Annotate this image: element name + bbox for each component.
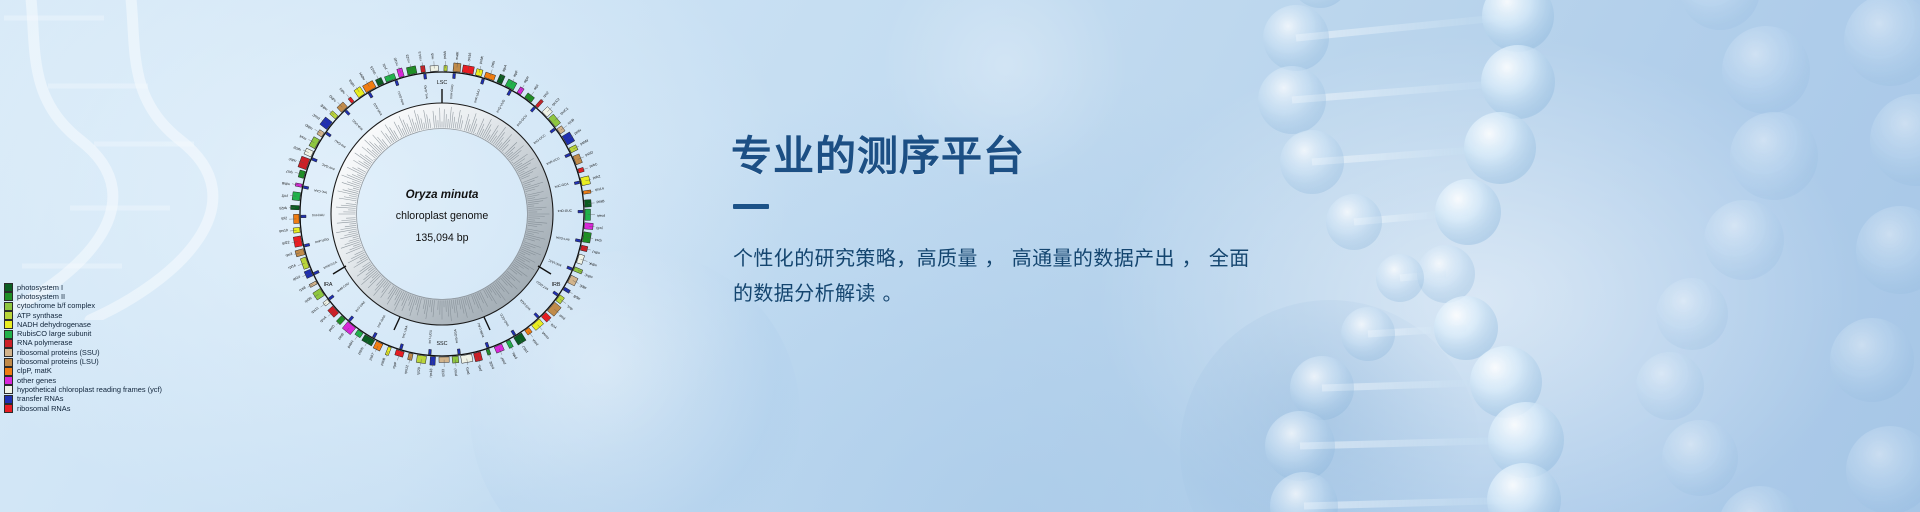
- gene-name-label: ndhI: [339, 87, 346, 95]
- gene-name-label: rps3: [285, 252, 293, 258]
- region-label-ssc: SSC: [436, 341, 447, 347]
- gene-name-label: psbB: [380, 357, 387, 367]
- gene-name-label: psbT: [368, 351, 375, 361]
- legend-color-swatch: [4, 292, 13, 301]
- legend-item-label: cytochrome b/f complex: [17, 302, 95, 310]
- trna-name-label: trnY-GUA: [555, 235, 570, 242]
- gene-name-label: cemA: [541, 330, 550, 340]
- gene-name-label: ndhD: [304, 122, 314, 130]
- gene-feature-box: [329, 295, 335, 300]
- legend-item-label: RNA polymerase: [17, 339, 72, 347]
- trna-name-label: trnQ-UUG: [495, 98, 506, 113]
- legend-item: RNA polymerase: [4, 339, 264, 348]
- gene-feature-box: [385, 347, 391, 356]
- gene-name-label: rps7: [285, 169, 293, 175]
- banner-copy: 专业的测序平台 个性化的研究策略，高质量 ， 高通量的数据产出 ， 全面的数据分…: [731, 135, 1291, 311]
- gene-name-label: psbM: [580, 139, 590, 146]
- gene-name-label: ccsA: [298, 134, 307, 142]
- legend-color-swatch: [4, 302, 13, 311]
- trna-name-label: trnS-GGA: [453, 328, 459, 343]
- gene-feature-box: [303, 186, 308, 190]
- gene-name-label: ndhK: [588, 261, 598, 268]
- hero-banner: LSC IRA SSC IRB psbAmatKrps16psbKpsbIatp…: [0, 0, 1920, 512]
- legend-item: ribosomal proteins (LSU): [4, 357, 264, 366]
- legend-color-swatch: [4, 376, 13, 385]
- trna-name-label: trnL-UAG: [423, 84, 429, 98]
- gene-name-label: psbA: [443, 50, 447, 59]
- gene-name-label: psbC: [589, 162, 598, 168]
- legend-item-label: ribosomal RNAs: [17, 405, 70, 413]
- gene-name-label: psbD: [585, 150, 595, 157]
- gene-name-label: rps12: [404, 365, 410, 374]
- legend-item: transfer RNAs: [4, 395, 264, 404]
- gene-name-label: rps18: [429, 368, 434, 377]
- trna-name-label: trnI-GAU: [333, 138, 346, 149]
- legend-item: cytochrome b/f complex: [4, 302, 264, 311]
- gene-feature-box: [553, 291, 559, 296]
- gene-name-label: rpoC1: [559, 107, 569, 116]
- gene-name-label: psaC: [311, 112, 320, 120]
- gene-name-label: ndhG: [328, 94, 337, 103]
- banner-description: 个性化的研究策略，高质量 ， 高通量的数据产出 ， 全面的数据分析解读 。: [733, 241, 1273, 311]
- gene-name-label: rpoA: [319, 315, 328, 323]
- trna-name-label: trnG-GCC: [499, 312, 510, 327]
- gene-name-label: psbZ: [592, 174, 601, 180]
- legend-item-label: NADH dehydrogenase: [17, 321, 91, 329]
- gene-name-label: rpl14: [292, 275, 301, 282]
- gene-feature-box: [575, 239, 580, 243]
- gene-name-label: rps16: [467, 52, 473, 61]
- gene-name-label: ndhH: [358, 71, 366, 81]
- trna-name-label: trnP-UGG: [315, 237, 330, 244]
- trna-name-label: trnT-UGU: [428, 329, 433, 344]
- gene-feature-box: [563, 287, 570, 293]
- gene-name-label: petD: [328, 324, 336, 332]
- gene-name-label: rpl2: [281, 216, 287, 220]
- gene-feature-box: [400, 344, 404, 350]
- gene-name-label: rpoC2: [551, 97, 561, 107]
- gene-name-label: atpI: [533, 84, 540, 91]
- gene-name-label: matK: [455, 51, 460, 60]
- region-label-ira: IRA: [324, 282, 333, 288]
- legend-item-label: other genes: [17, 377, 56, 385]
- gene-name-label: rpl16: [288, 263, 297, 269]
- trna-name-label: trnG-UCC: [533, 133, 547, 145]
- page-title: 专业的测序平台: [731, 135, 1291, 178]
- gene-feature-box: [314, 270, 320, 274]
- gene-name-label: ycf3: [596, 226, 603, 231]
- trna-name-label: trnW-CCA: [323, 260, 339, 270]
- gene-name-label: atpH: [523, 75, 531, 84]
- gene-name-label: rrn16: [393, 57, 399, 66]
- gene-name-label: rbcL: [566, 304, 574, 311]
- gene-feature-box: [485, 342, 489, 348]
- legend-item-label: ATP synthase: [17, 312, 62, 320]
- genome-legend: photosystem Iphotosystem IIcytochrome b/…: [4, 283, 264, 413]
- gene-name-label: rrn23: [405, 54, 411, 63]
- trna-name-label: trnK-UUU: [473, 88, 481, 103]
- gene-name-label: psbJ: [521, 345, 528, 354]
- gene-name-label: ycf1: [382, 63, 388, 70]
- trna-name-label: trnH-GUG: [449, 84, 454, 99]
- legend-color-swatch: [4, 385, 13, 394]
- gene-name-label: ndhE: [319, 103, 328, 112]
- genome-center-species: Oryza minuta: [406, 189, 479, 201]
- legend-item-label: transfer RNAs: [17, 395, 63, 403]
- gene-name-label: petB: [337, 332, 345, 341]
- trna-name-label: trnF-GAA: [376, 314, 386, 328]
- legend-color-swatch: [4, 339, 13, 348]
- gene-feature-box: [368, 92, 373, 98]
- trna-name-label: trnE-UUC: [547, 258, 562, 267]
- trna-name-label: trnM-CAU: [336, 281, 350, 293]
- gene-feature-box: [481, 79, 485, 85]
- title-underline-rule: [733, 204, 769, 209]
- gene-feature-box: [567, 266, 573, 270]
- legend-item: RubisCO large subunit: [4, 329, 264, 338]
- trna-name-label: trnI-CAU: [312, 213, 325, 217]
- legend-item: ATP synthase: [4, 311, 264, 320]
- gene-feature-box: [511, 330, 516, 336]
- gene-name-label: rpl20: [416, 367, 421, 375]
- legend-item: NADH dehydrogenase: [4, 320, 264, 329]
- gene-feature-box: [457, 349, 460, 354]
- legend-item-label: ribosomal proteins (LSU): [17, 358, 99, 366]
- legend-item: photosystem II: [4, 292, 264, 301]
- gene-name-label: psbN: [357, 346, 365, 355]
- gene-feature-box: [507, 90, 512, 96]
- trna-name-label: trnV-UAC: [354, 299, 366, 312]
- legend-color-swatch: [4, 320, 13, 329]
- gene-feature-box: [328, 306, 339, 317]
- gene-name-label: clpP: [392, 361, 398, 369]
- gene-feature-box: [312, 158, 318, 162]
- gene-name-label: psaB: [596, 199, 605, 204]
- gene-feature-box: [395, 80, 399, 86]
- gene-feature-box: [292, 192, 300, 201]
- gene-name-label: rpl33: [441, 369, 445, 377]
- trna-name-label: trnC-GCA: [554, 182, 569, 189]
- gene-feature-box: [530, 107, 535, 112]
- gene-name-label: psbE: [488, 360, 495, 369]
- gene-name-label: rps2: [542, 91, 550, 99]
- trna-name-label: trnN-GUU: [397, 90, 406, 105]
- legend-item-label: photosystem I: [17, 284, 63, 292]
- gene-feature-box: [565, 153, 571, 157]
- trna-name-label: trnS-UGA: [518, 298, 531, 311]
- chloroplast-genome-map: LSC IRA SSC IRB psbAmatKrps16psbKpsbIatp…: [232, 4, 652, 424]
- gene-feature-box: [428, 349, 431, 354]
- gene-feature-box: [534, 313, 539, 318]
- trna-name-label: trnR-ACG: [372, 102, 383, 116]
- gene-name-label: atpA: [501, 64, 508, 73]
- gene-name-label: psbL: [511, 351, 518, 360]
- trna-name-label: trnfM-CAU: [476, 322, 485, 338]
- gene-name-label: psaJ: [453, 368, 458, 376]
- legend-color-swatch: [4, 283, 13, 292]
- legend-item: other genes: [4, 376, 264, 385]
- gene-feature-box: [345, 110, 350, 115]
- gene-feature-box: [326, 132, 332, 137]
- legend-item: ribosomal proteins (SSU): [4, 348, 264, 357]
- legend-item: photosystem I: [4, 283, 264, 292]
- gene-feature-box: [320, 117, 332, 129]
- gene-name-label: rps11: [310, 306, 319, 314]
- legend-item: clpP, matK: [4, 367, 264, 376]
- gene-name-label: ycf2: [281, 193, 288, 198]
- trna-name-label: trnV-GAC: [321, 162, 336, 171]
- gene-name-label: ndhJ: [592, 249, 601, 255]
- legend-color-swatch: [4, 348, 13, 357]
- gene-name-label: rps19: [279, 228, 288, 233]
- banner-description-line: 的数据分析解读 。: [733, 276, 1273, 311]
- gene-name-label: ndhB: [281, 181, 290, 187]
- gene-name-label: ndhA: [348, 78, 356, 88]
- legend-color-swatch: [4, 330, 13, 339]
- gene-name-label: rpl36: [304, 296, 313, 304]
- trna-name-label: trnT-GGU: [535, 279, 549, 291]
- gene-feature-box: [363, 81, 376, 93]
- legend-color-swatch: [4, 311, 13, 320]
- gene-name-label: psbK: [479, 55, 485, 64]
- trna-name-label: trnR-UCU: [546, 156, 561, 166]
- gene-feature-box: [578, 210, 583, 213]
- gene-feature-box: [373, 332, 378, 338]
- gene-name-label: petN: [574, 128, 583, 135]
- legend-item-label: ribosomal proteins (SSU): [17, 349, 100, 357]
- gene-name-label: petA: [531, 338, 539, 347]
- gene-name-label: petL: [477, 364, 483, 372]
- gene-name-label: atpE: [578, 283, 587, 290]
- legend-item-label: RubisCO large subunit: [17, 330, 91, 338]
- trna-name-label: trnS-GCU: [516, 113, 529, 127]
- gene-name-label: rpl23: [279, 206, 287, 210]
- gene-name-label: psaI: [558, 313, 566, 320]
- genome-map-svg: LSC IRA SSC IRB psbAmatKrps16psbKpsbIatp…: [232, 4, 652, 424]
- legend-item-label: photosystem II: [17, 293, 65, 301]
- gene-name-label: rps8: [298, 286, 306, 293]
- region-label-lsc: LSC: [437, 80, 448, 86]
- legend-item: ribosomal RNAs: [4, 404, 264, 413]
- gene-name-label: ycf4: [550, 322, 557, 329]
- background-blob: [1180, 300, 1480, 512]
- gene-name-label: rps15: [369, 65, 376, 75]
- legend-color-swatch: [4, 395, 13, 404]
- gene-name-label: rpoB: [567, 117, 576, 125]
- legend-color-swatch: [4, 404, 13, 413]
- genome-center-subtitle: chloroplast genome: [396, 210, 489, 222]
- gene-name-label: ndhF: [288, 157, 297, 164]
- gene-name-label: atpF: [512, 70, 519, 78]
- gene-feature-box: [574, 181, 579, 185]
- gene-feature-box: [348, 97, 354, 103]
- gene-name-label: psaA: [596, 214, 605, 218]
- gene-name-label: rpl32: [293, 145, 302, 152]
- gene-name-label: rps14: [595, 187, 604, 192]
- gene-feature-box: [349, 316, 354, 321]
- gene-name-label: petG: [465, 366, 470, 374]
- trna-name-label: trnD-GUC: [558, 209, 573, 213]
- gene-name-label: atpB: [572, 294, 581, 302]
- dna-helix-right-icon: [1200, 0, 1920, 512]
- gene-feature-box: [295, 249, 305, 257]
- gene-name-label: psbF: [500, 356, 507, 365]
- gene-name-label: rps4: [594, 238, 601, 243]
- legend-color-swatch: [4, 367, 13, 376]
- gene-name-label: psbH: [347, 339, 355, 348]
- legend-item-label: clpP, matK: [17, 367, 52, 375]
- legend-item-label: hypothetical chloroplast reading frames …: [17, 386, 162, 394]
- gene-feature-box: [452, 356, 459, 363]
- legend-item: hypothetical chloroplast reading frames …: [4, 385, 264, 394]
- trna-name-label: trnL-CAA: [313, 188, 327, 195]
- gene-feature-box: [424, 74, 427, 79]
- gene-feature-box: [295, 183, 302, 187]
- legend-color-swatch: [4, 358, 13, 367]
- gene-name-label: rrn5: [430, 53, 434, 59]
- trna-name-label: trnA-UGC: [351, 118, 364, 131]
- gene-name-label: ndhC: [584, 272, 594, 279]
- gene-name-label: rpl22: [282, 240, 290, 245]
- gene-name-label: psbI: [490, 60, 496, 68]
- region-label-irb: IRB: [552, 282, 561, 288]
- gene-feature-box: [453, 73, 456, 78]
- banner-description-line: 个性化的研究策略，高质量 ， 高通量的数据产出 ， 全面: [733, 241, 1273, 276]
- trna-name-label: trnL-UAA: [401, 324, 409, 339]
- gene-feature-box: [304, 243, 309, 247]
- gene-feature-box: [301, 215, 306, 218]
- gene-name-label: rrn4.5: [418, 51, 423, 61]
- genome-center-size: 135,094 bp: [415, 232, 468, 244]
- gene-feature-box: [550, 128, 556, 133]
